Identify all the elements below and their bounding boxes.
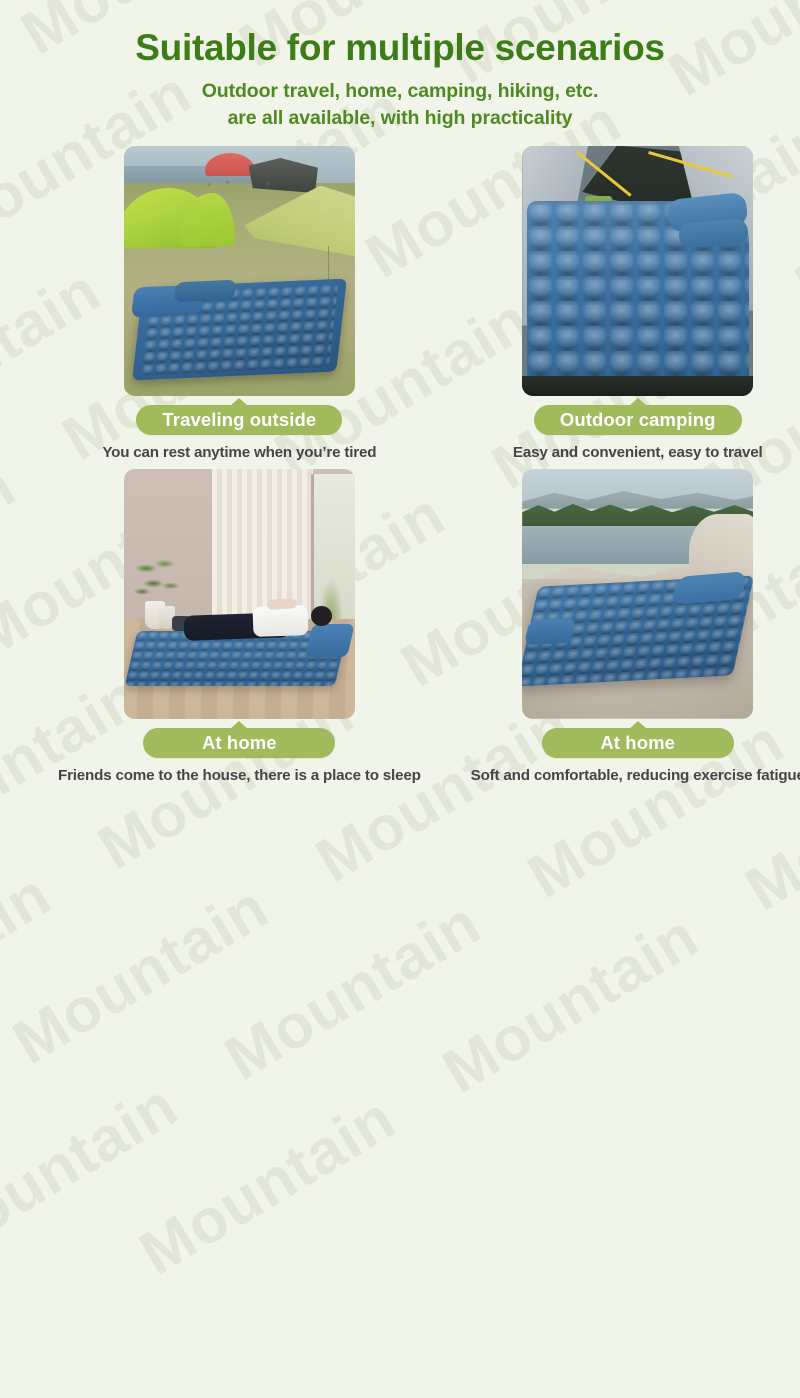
scenario-card-traveling-outside: Traveling outside You can rest anytime w… <box>58 146 421 461</box>
scenario-cards-grid: Traveling outside You can rest anytime w… <box>58 146 742 784</box>
tent-floor-shadow <box>522 376 753 396</box>
person-head <box>311 606 332 626</box>
pad-headrest-bolster <box>305 624 354 657</box>
potted-plant-leaves <box>133 551 184 609</box>
caption-outdoor-camping: Easy and convenient, easy to travel <box>513 444 763 461</box>
watermark-text: Mountain <box>213 888 493 1095</box>
badge-at-home-right: At home <box>542 728 734 758</box>
caption-at-home-left: Friends come to the house, there is a pl… <box>58 767 421 784</box>
photo-frame-at-home-left <box>124 469 355 719</box>
pad-pillow-left <box>524 617 576 644</box>
subtitle-block: Outdoor travel, home, camping, hiking, e… <box>0 78 800 132</box>
page-title: Suitable for multiple scenarios <box>0 28 800 69</box>
caption-at-home-right: Soft and comfortable, reducing exercise … <box>471 767 800 784</box>
photo-camping-field <box>124 146 355 396</box>
photo-lakeside-rock <box>522 469 753 719</box>
scenario-card-outdoor-camping: Outdoor camping Easy and convenient, eas… <box>471 146 800 461</box>
watermark-text: Mountain <box>431 900 711 1107</box>
badge-wrap-at-home-right: At home <box>471 728 800 758</box>
watermark-text: Mountain <box>0 1070 190 1277</box>
badge-wrap-traveling-outside: Traveling outside <box>58 405 421 435</box>
subtitle-line-2: are all available, with high practicalit… <box>0 105 800 132</box>
photo-frame-at-home-right <box>522 469 753 719</box>
badge-wrap-at-home-left: At home <box>58 728 421 758</box>
photo-tent-interior <box>522 146 753 396</box>
header: Suitable for multiple scenarios Outdoor … <box>0 0 800 132</box>
photo-frame-outdoor-camping <box>522 146 753 396</box>
photo-frame-traveling-outside <box>124 146 355 396</box>
subtitle-line-1: Outdoor travel, home, camping, hiking, e… <box>0 78 800 105</box>
infographic-page: Suitable for multiple scenarios Outdoor … <box>0 0 800 800</box>
watermark-text: Mountain <box>1 872 281 1079</box>
photo-bedroom-interior <box>124 469 355 719</box>
person-torso <box>253 605 309 637</box>
scenario-card-at-home-right: At home Soft and comfortable, reducing e… <box>471 469 800 784</box>
watermark-text: Mountain <box>0 859 63 1066</box>
pad-pillow-right <box>173 279 236 302</box>
badge-at-home-left: At home <box>143 728 335 758</box>
scenario-card-at-home-left: At home Friends come to the house, there… <box>58 469 421 784</box>
caption-traveling-outside: You can rest anytime when you’re tired <box>102 444 376 461</box>
watermark-text: Mountain <box>128 1082 408 1289</box>
person-arm <box>267 598 297 610</box>
badge-outdoor-camping: Outdoor camping <box>534 405 742 435</box>
badge-wrap-outdoor-camping: Outdoor camping <box>471 405 800 435</box>
badge-traveling-outside: Traveling outside <box>136 405 342 435</box>
